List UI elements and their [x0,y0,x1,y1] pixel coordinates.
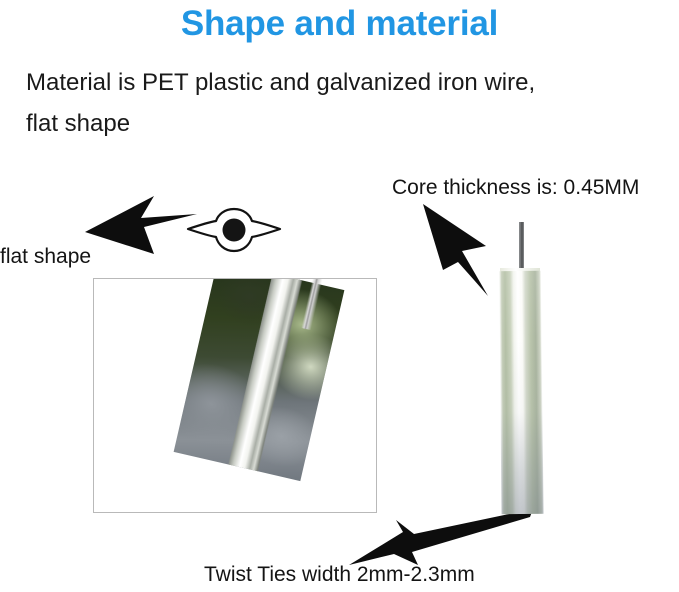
flat-oval-cross-section-icon [186,204,282,256]
photo-clip [94,279,376,512]
arrow-down-left-icon [348,508,534,570]
callout-label-core-thickness: Core thickness is: 0.45MM [392,176,639,200]
twist-tie-with-exposed-wire-photo [497,222,543,514]
callout-label-flat-shape: flat shape [0,245,91,269]
exposed-iron-wire-core [519,222,524,274]
pet-plastic-tie-body [499,271,544,514]
subtitle-line-1: Material is PET plastic and galvanized i… [26,62,666,103]
arrow-left-icon [84,194,198,256]
photo-frame [93,278,377,513]
twist-tie-closeup-photo [174,279,345,481]
subtitle-text: Material is PET plastic and galvanized i… [26,62,666,144]
page-title: Shape and material [0,2,679,46]
subtitle-line-2: flat shape [26,103,666,144]
